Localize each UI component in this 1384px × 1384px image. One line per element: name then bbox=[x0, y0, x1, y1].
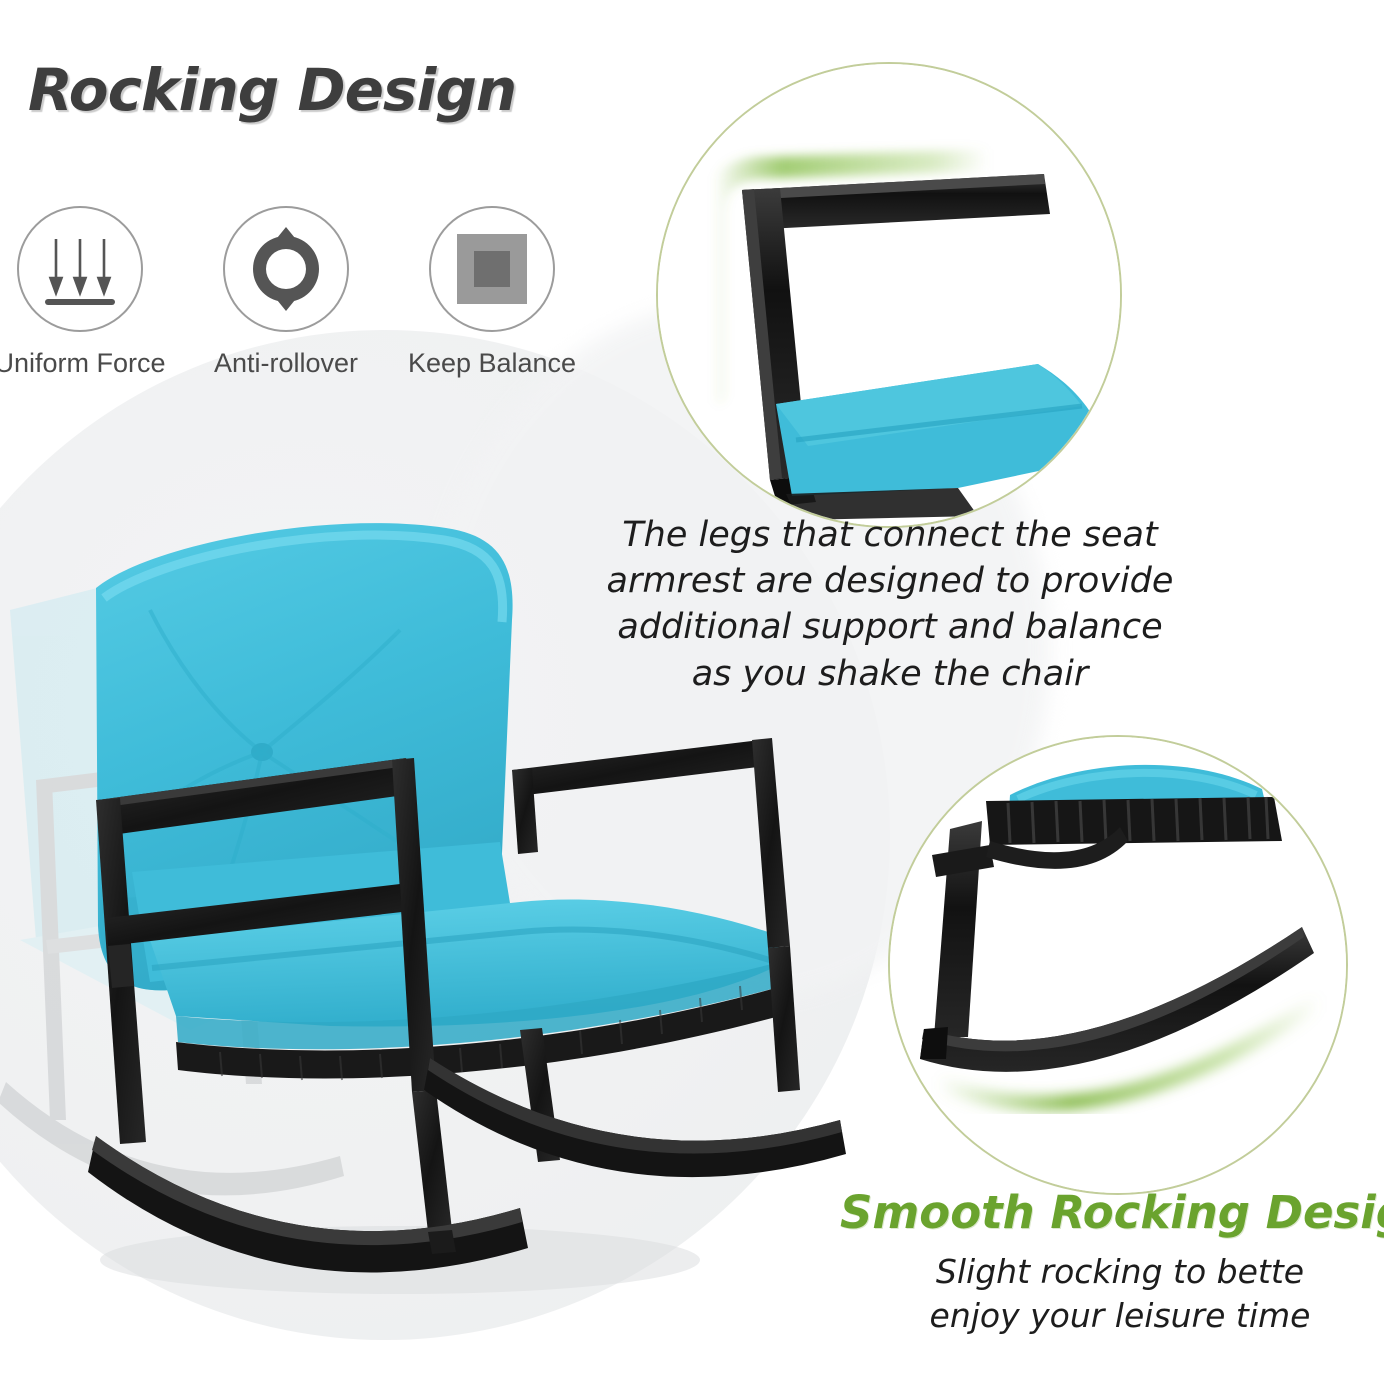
feature-anti-rollover[interactable]: Anti-rollover bbox=[216, 206, 356, 379]
down-arrows-on-bar-icon bbox=[34, 223, 126, 315]
rattan-band bbox=[986, 797, 1282, 845]
feature-icon-row: Uniform Force Anti-roll bbox=[10, 206, 562, 379]
feature-label: Anti-rollover bbox=[214, 348, 358, 379]
inset-rocker-base-detail bbox=[888, 735, 1348, 1195]
callout-line: as you shake the chair bbox=[600, 651, 1180, 697]
inset-armrest-leg-detail bbox=[656, 62, 1122, 528]
smooth-rocking-heading: Smooth Rocking Design bbox=[840, 1186, 1384, 1239]
page-title: Rocking Design bbox=[28, 56, 516, 124]
infographic-canvas: Rocking Design bbox=[0, 0, 1384, 1384]
callout-line: additional support and balance bbox=[600, 604, 1180, 650]
callout-line: enjoy your leisure time bbox=[860, 1294, 1380, 1338]
feature-circle bbox=[17, 206, 143, 332]
callout-line: The legs that connect the seat bbox=[600, 512, 1180, 558]
callout-line: armrest are designed to provide bbox=[600, 558, 1180, 604]
callout-line: Slight rocking to bette bbox=[860, 1250, 1380, 1294]
callout-legs-paragraph: The legs that connect the seat armrest a… bbox=[600, 512, 1180, 697]
feature-circle bbox=[429, 206, 555, 332]
feature-circle bbox=[223, 206, 349, 332]
feature-label: Uniform Force bbox=[0, 348, 166, 379]
feature-uniform-force[interactable]: Uniform Force bbox=[10, 206, 150, 379]
callout-rocking-paragraph: Slight rocking to bette enjoy your leisu… bbox=[860, 1250, 1380, 1337]
circular-arrows-icon bbox=[240, 223, 332, 315]
feature-label: Keep Balance bbox=[408, 348, 576, 379]
feature-keep-balance[interactable]: Keep Balance bbox=[422, 206, 562, 379]
nested-squares-icon bbox=[449, 226, 535, 312]
